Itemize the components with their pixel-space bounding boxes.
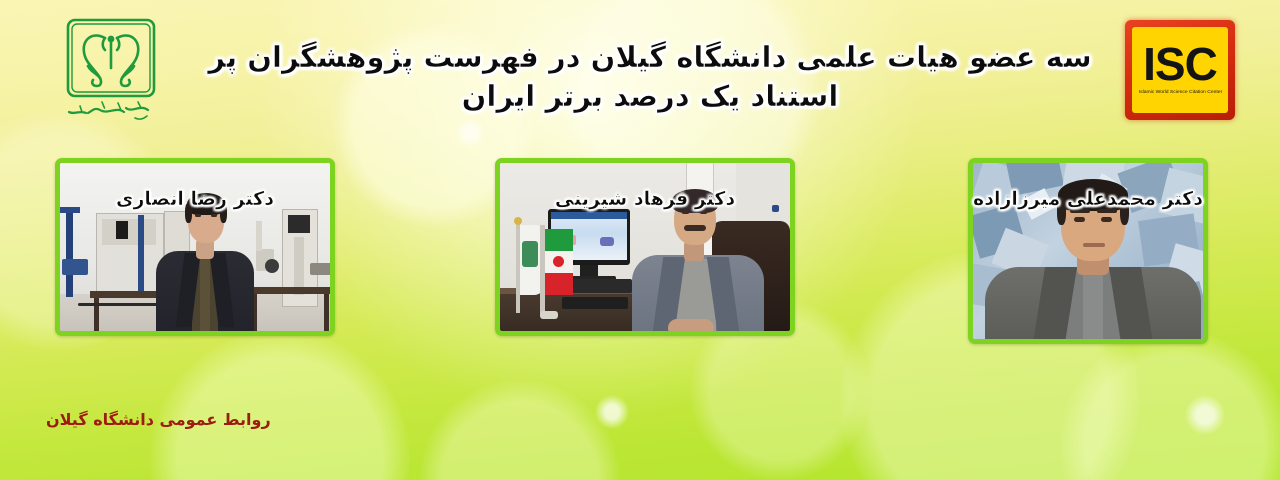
isc-acronym: ISC <box>1143 43 1217 87</box>
person-card <box>495 158 795 336</box>
isc-logo-field: ISC Islamic World Science Citation Cente… <box>1132 27 1228 113</box>
banner-canvas: دانشگاه گیلان ISC Islamic World Science … <box>0 0 1280 480</box>
person-name: دکتر فرهاد شیرینی <box>485 188 805 210</box>
bokeh-circle <box>150 330 410 480</box>
public-relations-credit: روابط عمومی دانشگاه گیلان <box>46 410 271 429</box>
person-card <box>55 158 335 336</box>
isc-logo: ISC Islamic World Science Citation Cente… <box>1125 20 1235 120</box>
person-photo-frame <box>968 158 1208 344</box>
person-card <box>968 158 1208 344</box>
bokeh-sparkle <box>595 395 629 429</box>
person-name: دکتر رضا انصاری <box>35 188 355 210</box>
guilan-logo-caption: دانشگاه گیلان <box>111 117 112 119</box>
isc-subtitle: Islamic World Science Citation Center <box>1138 89 1222 95</box>
bokeh-sparkle <box>455 118 485 148</box>
people-row <box>0 158 1280 338</box>
bokeh-circle <box>420 380 620 480</box>
bokeh-sparkle <box>1185 395 1225 435</box>
person-name: دکتر محمدعلی میرزازاده <box>928 188 1248 210</box>
guilan-university-logo: دانشگاه گیلان <box>52 14 170 122</box>
person-photo-frame <box>55 158 335 336</box>
person-photo-frame <box>495 158 795 336</box>
banner-headline: سه عضو هیات علمی دانشگاه گیلان در فهرست … <box>180 38 1120 116</box>
bokeh-circle <box>1060 330 1280 480</box>
